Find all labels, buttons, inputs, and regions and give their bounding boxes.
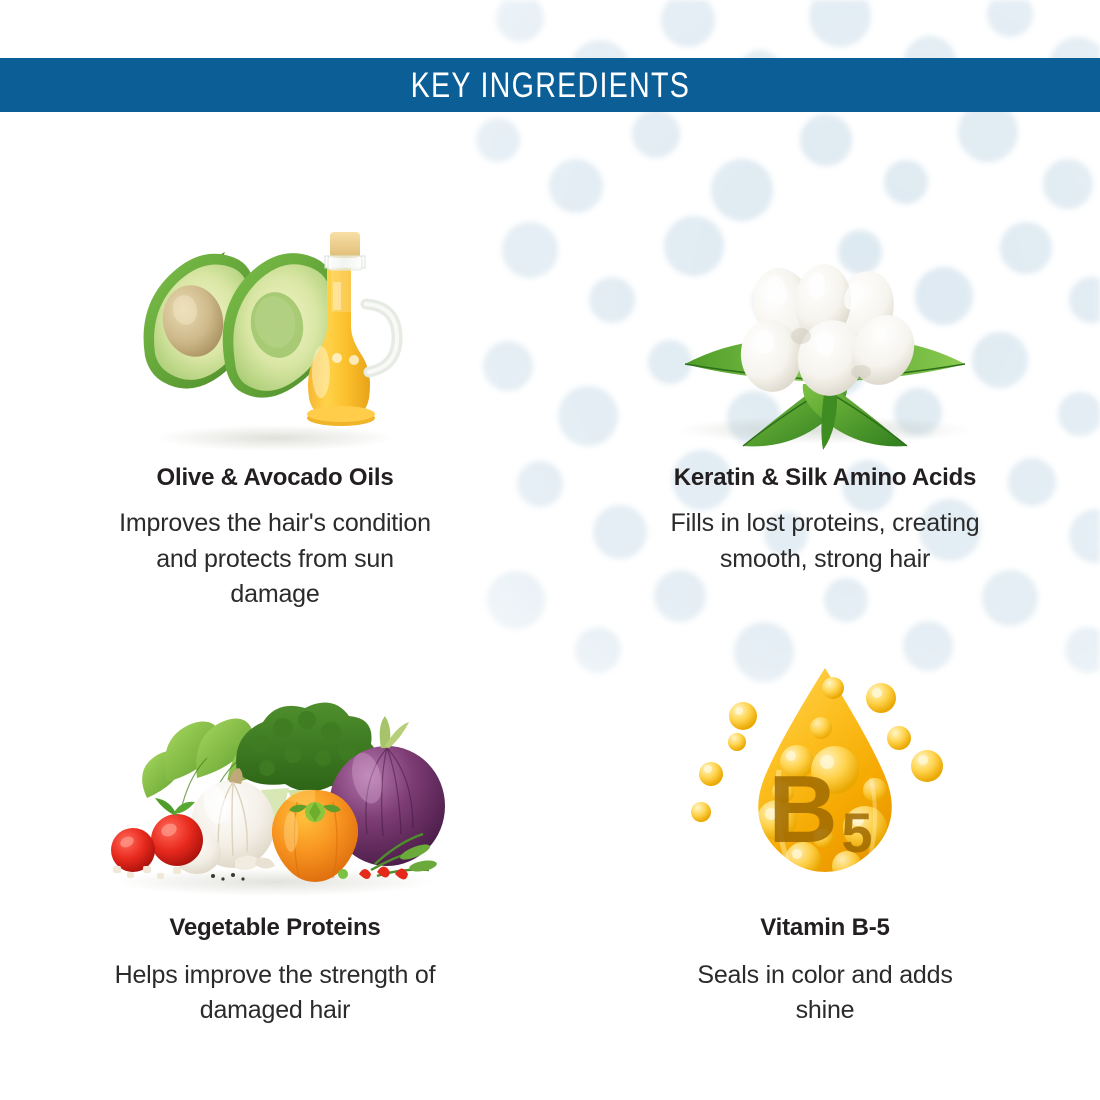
infographic-page: KEY INGREDIENTS	[0, 0, 1100, 1100]
silk-cocoons-on-leaves-illustration	[625, 156, 1025, 456]
ingredient-title: Keratin & Silk Amino Acids	[674, 464, 976, 492]
ingredient-title: Vegetable Proteins	[169, 914, 380, 942]
ingredient-description: Helps improve the strength of damaged ha…	[95, 958, 455, 1029]
ingredient-title: Vitamin B-5	[760, 914, 889, 942]
ingredient-card-keratin-silk-amino-acids: Keratin & Silk Amino Acids Fills in lost…	[550, 112, 1100, 613]
ingredient-description: Improves the hair's condition and protec…	[110, 506, 440, 613]
ingredient-title: Olive & Avocado Oils	[157, 464, 394, 492]
droplet-letter-b: B	[768, 756, 837, 863]
ingredient-description: Fills in lost proteins, creating smooth,…	[625, 506, 1025, 577]
ingredient-card-vegetable-proteins: Vegetable Proteins Helps improve the str…	[0, 613, 550, 1100]
avocado-and-oil-bottle-illustration	[125, 156, 425, 456]
assorted-vegetables-illustration	[85, 635, 465, 910]
droplet-number-5: 5	[841, 801, 872, 864]
ingredient-card-vitamin-b5: B 5	[550, 613, 1100, 1100]
ingredient-card-olive-avocado-oils: Olive & Avocado Oils Improves the hair's…	[0, 112, 550, 613]
header-bar: KEY INGREDIENTS	[0, 58, 1100, 112]
ingredient-description: Seals in color and adds shine	[675, 958, 975, 1029]
ingredients-grid: Olive & Avocado Oils Improves the hair's…	[0, 112, 1100, 1100]
golden-oil-droplet-b5-illustration: B 5	[675, 635, 975, 910]
page-title: KEY INGREDIENTS	[410, 68, 689, 103]
